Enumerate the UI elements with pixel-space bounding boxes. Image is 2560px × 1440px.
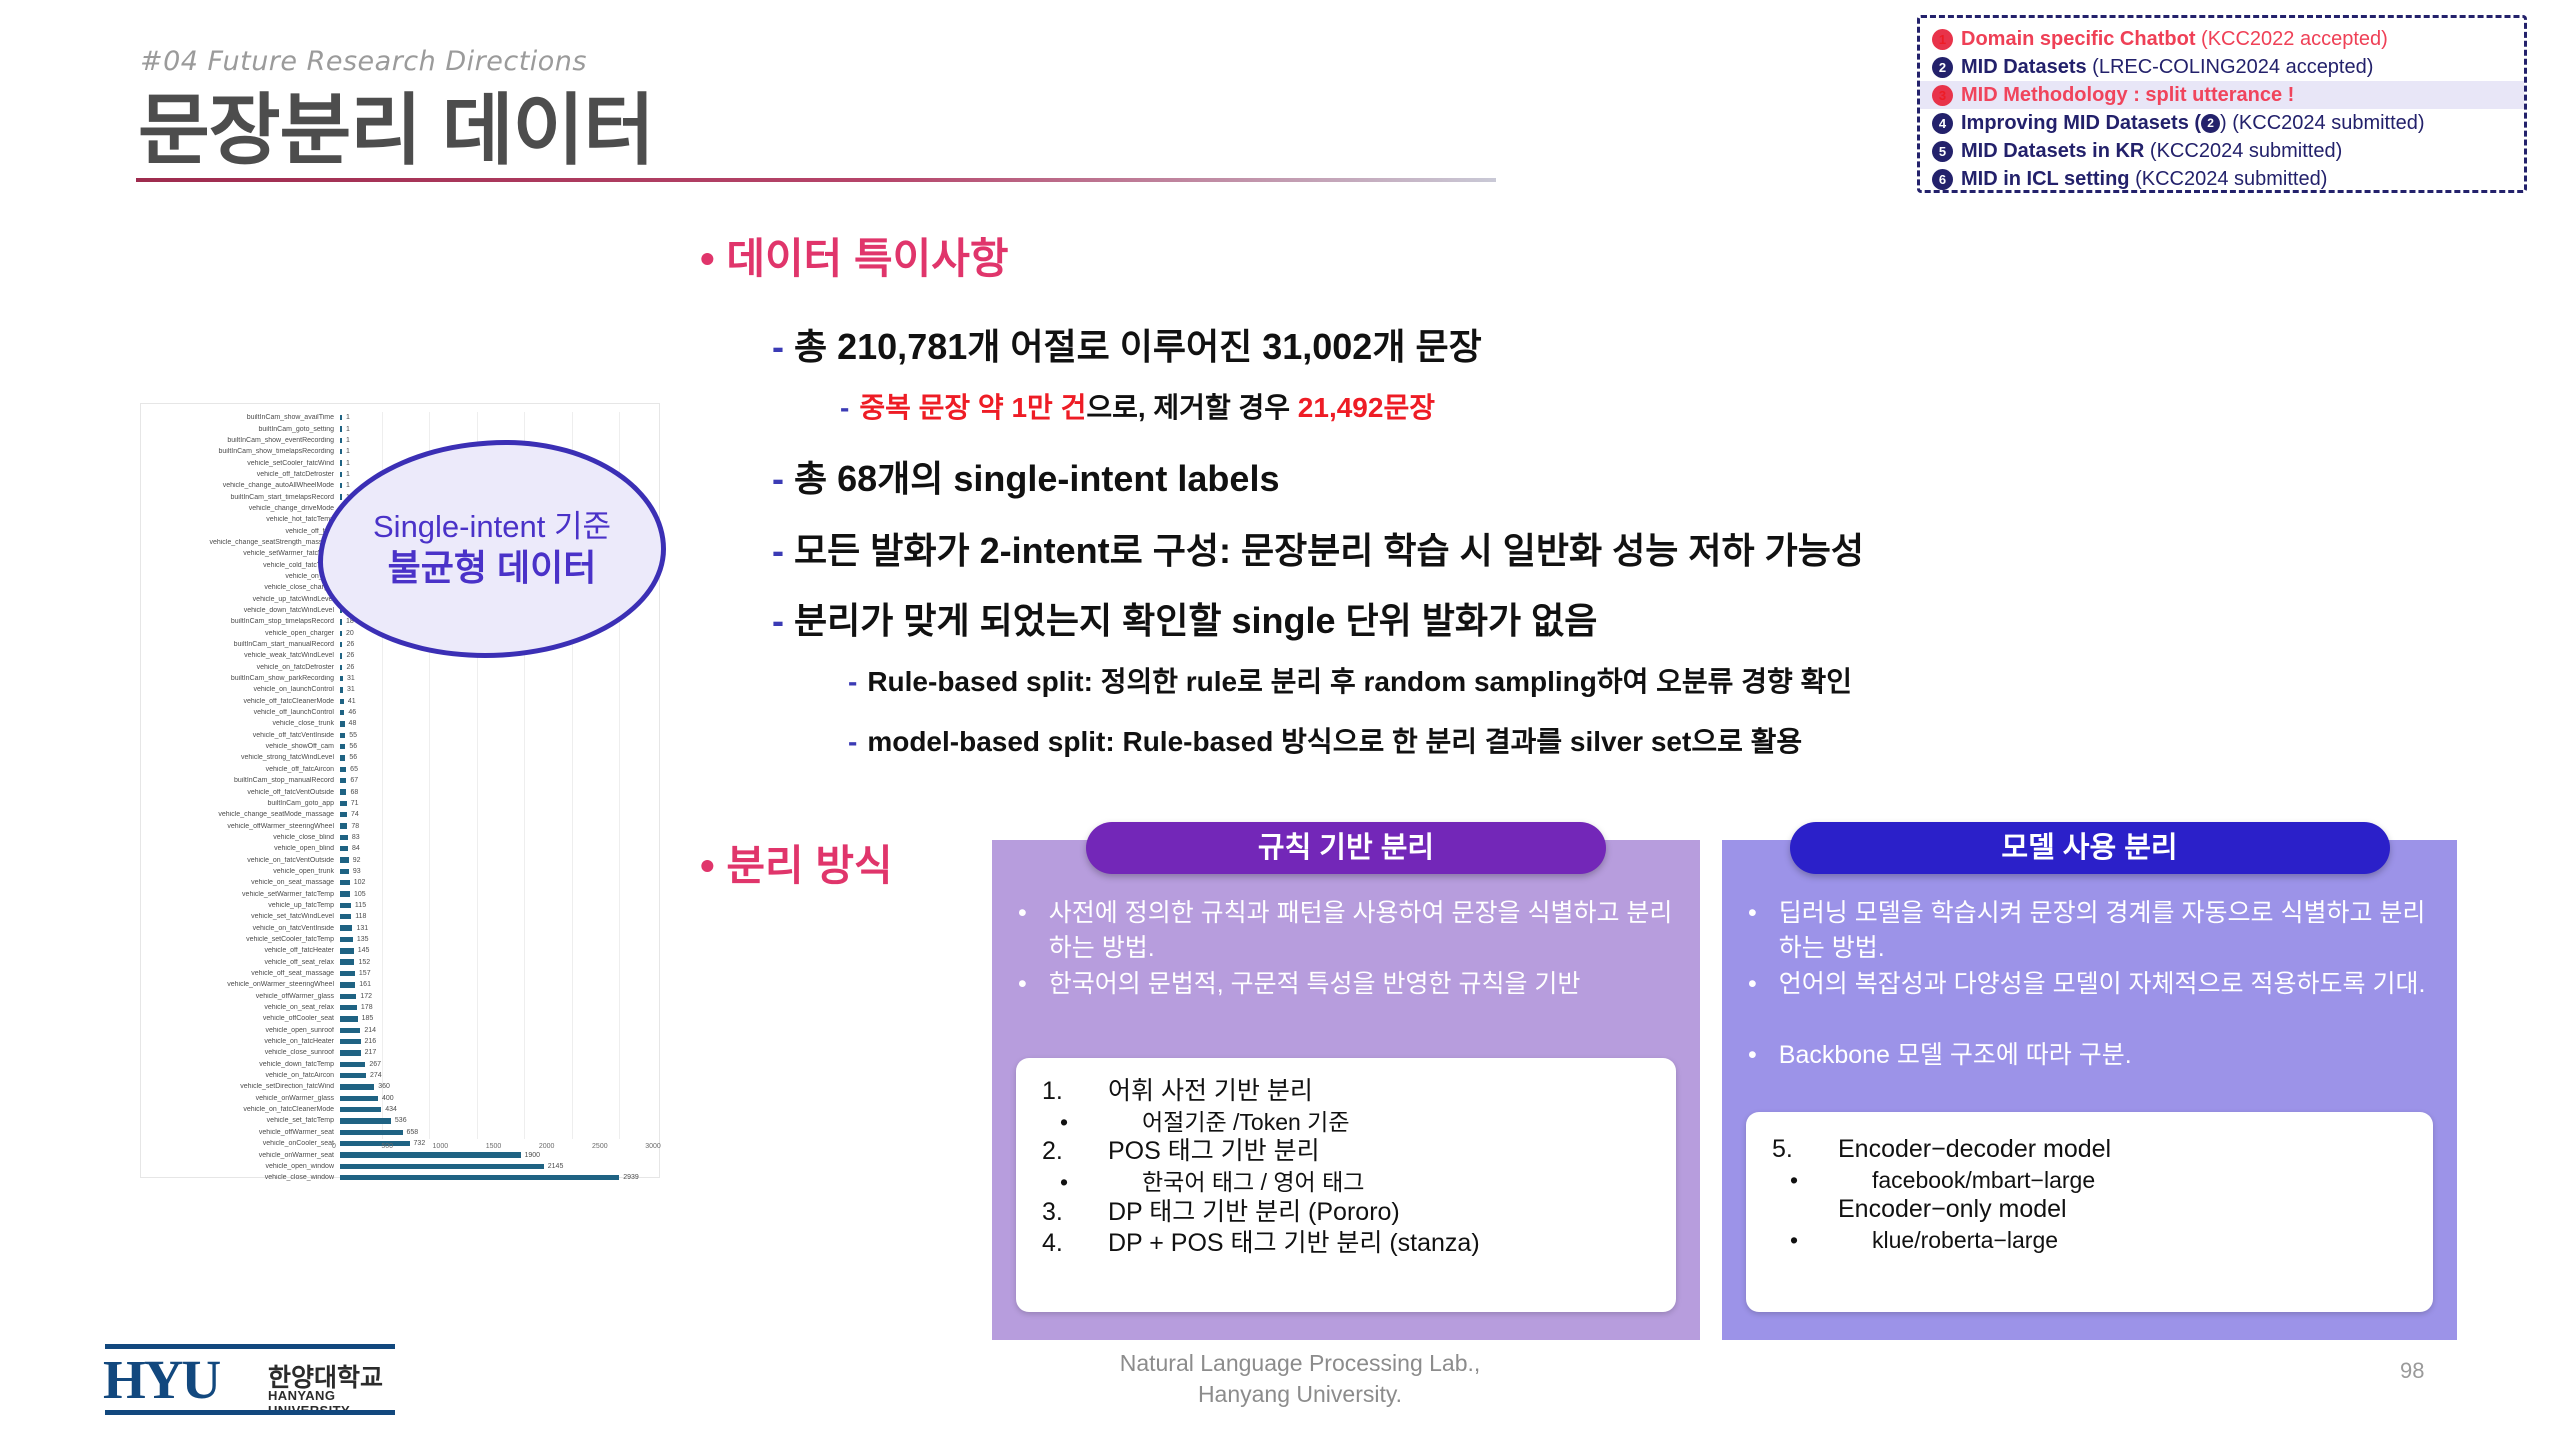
chart-bar-value: 1 [346,471,350,478]
chart-bar-value: 41 [348,698,356,705]
chart-bar-track: 48 [340,720,653,727]
list-item: 3.DP 태그 기반 분리 (Pororo) [1016,1197,1676,1229]
page-number: 98 [2400,1358,2424,1384]
chart-bar-track: 2939 [340,1174,653,1181]
panel-bullet: •Backbone 모델 구조에 따라 구분. [1748,1038,2439,1073]
legend-item-label: MID Datasets in KR (KCC2024 submitted) [1961,140,2342,163]
chart-bar-track: 31 [340,675,653,682]
chart-bar-track: 145 [340,947,653,954]
bullet-dot-icon: • [1748,1038,1757,1073]
chart-bar-label: vehicle_offCooler_seat [141,1015,340,1022]
chart-bar-value: 267 [369,1061,381,1068]
chart-bar-value: 658 [407,1129,419,1136]
chart-bar-row: vehicle_close_window2939 [141,1172,653,1183]
chart-bar [340,619,342,624]
legend-item-2: 2MID Datasets (LREC-COLING2024 accepted) [1920,53,2524,81]
footer-line-2: Hanyang University. [1100,1379,1500,1410]
chart-bar-label: vehicle_on_seat_massage [141,879,340,886]
chart-bar-row: vehicle_on_launchControl31 [141,684,653,695]
legend-item-label: MID Datasets (LREC-COLING2024 accepted) [1961,56,2373,79]
chart-bar-value: 2145 [548,1163,564,1170]
list-item-label: DP 태그 기반 분리 (Pororo) [1108,1197,1400,1229]
list-item-number: 2. [1016,1136,1108,1168]
list-item-label: Encoder−decoder model [1838,1134,2111,1166]
list-item-number: 5. [1746,1134,1838,1166]
panel-bullet: •언어의 복잡성과 다양성을 모델이 자체적으로 적용하도록 기대. [1748,967,2439,1002]
chart-bar-track: 78 [340,823,653,830]
chart-bar [340,1062,365,1067]
legend-item-3: 3MID Methodology : split utterance ! [1920,81,2524,109]
chart-bar-row: vehicle_onWarmer_glass400 [141,1093,653,1104]
legend-item-4: 4Improving MID Datasets (2) (KCC2024 sub… [1920,109,2524,137]
list-item-label: klue/roberta−large [1872,1226,2058,1255]
content-line-4: -모든 발화가 2-intent로 구성: 문장분리 학습 시 일반화 성능 저… [772,522,1864,574]
chart-bar-label: vehicle_close_blind [141,834,340,841]
chart-bar-row: vehicle_on_fatcAircon274 [141,1070,653,1081]
chart-bar-row: vehicle_offWarmer_glass172 [141,991,653,1002]
chart-bar-label: vehicle_change_autoAllWheelMode [141,482,340,489]
chart-bar-track: 135 [340,936,653,943]
rule-based-method-list: 1.어휘 사전 기반 분리•어절기준 /Token 기준2.POS 태그 기반 … [1016,1058,1676,1312]
chart-bar-value: 26 [346,664,354,671]
content-line-2: -중복 문장 약 1만 건으로, 제거할 경우 21,492문장 [840,386,1435,426]
chart-bar-value: 20 [346,630,354,637]
chart-bar-label: vehicle_on_launchControl [141,686,340,693]
chart-bar-label: vehicle_on_fatcVentInside [141,925,340,932]
chart-bar-row: vehicle_offWarmer_steeringWheel78 [141,820,653,831]
chart-bar-label: vehicle_down_fatcWindLevel [141,607,340,614]
chart-bar-label: vehicle_on_fatcCleanerMode [141,1106,340,1113]
dash-bullet-icon: - [772,530,784,571]
chart-bar [340,438,342,443]
chart-bar-track: 185 [340,1015,653,1022]
chart-axis-tick: 1500 [486,1143,502,1150]
chart-bar-label: vehicle_on_fatc [141,573,340,580]
dash-bullet-icon: - [772,458,784,499]
chart-bar-label: vehicle_off_fatcHeater [141,947,340,954]
chart-bar [340,721,345,726]
chart-bar [340,449,342,454]
chart-bar-track: 217 [340,1049,653,1056]
legend-item-6: 6MID in ICL setting (KCC2024 submitted) [1920,165,2524,193]
chart-bar-value: 172 [360,993,372,1000]
chart-bar-track: 65 [340,766,653,773]
bullet-dot-icon: • [1746,1166,1872,1195]
chart-bar [340,869,349,874]
rule-based-panel: 규칙 기반 분리 •사전에 정의한 규칙과 패턴을 사용하여 문장을 식별하고 … [992,840,1700,1340]
chart-bar-value: 84 [352,845,360,852]
chart-bar-track: 274 [340,1072,653,1079]
list-item: 2.POS 태그 기반 분리 [1016,1136,1676,1168]
chart-bar-row: vehicle_on_fatcVentOutside92 [141,854,653,865]
chart-bar [340,823,347,828]
model-based-panel: 모델 사용 분리 •딥러닝 모델을 학습시켜 문장의 경계를 자동으로 식별하고… [1722,840,2457,1340]
legend-number-badge: 3 [1932,85,1953,106]
slide-root: #04 Future Research Directions 문장분리 데이터 … [0,0,2560,1440]
chart-bar [340,891,350,896]
chart-bar-value: 92 [353,857,361,864]
chart-bar-row: builtInCam_goto_app71 [141,798,653,809]
list-item-label: 어휘 사전 기반 분리 [1108,1076,1313,1108]
chart-bar-row: vehicle_off_launchControl46 [141,707,653,718]
chart-bar-row: vehicle_close_trunk48 [141,718,653,729]
chart-bar-track: 68 [340,789,653,796]
legend-number-badge: 4 [1932,113,1953,134]
legend-number-badge: 2 [1932,57,1953,78]
rule-based-bullets: •사전에 정의한 규칙과 패턴을 사용하여 문장을 식별하고 분리하는 방법.•… [1018,896,1682,1004]
page-title: 문장분리 데이터 [138,68,654,180]
chart-bar-label: vehicle_off_fatcVentInside [141,732,340,739]
chart-bar-track: 56 [340,743,653,750]
legend-number-badge: 1 [1932,29,1953,50]
rule-based-panel-heading: 규칙 기반 분리 [1086,822,1606,874]
chart-bar-value: 185 [362,1015,374,1022]
chart-bar-row: vehicle_setDirection_fatcWind360 [141,1081,653,1092]
list-item: 4.DP + POS 태그 기반 분리 (stanza) [1016,1228,1676,1260]
dash-bullet-icon: - [848,666,857,697]
chart-bar-label: vehicle_onCooler_seat [141,1140,340,1147]
list-item: Encoder−only model [1746,1194,2433,1226]
chart-bar-row: vehicle_off_fatcHeater145 [141,945,653,956]
legend-item-label: MID in ICL setting (KCC2024 submitted) [1961,168,2327,191]
chart-bar-value: 74 [351,811,359,818]
chart-bar-row: builtInCam_show_eventRecording1 [141,435,653,446]
chart-bar-value: 68 [350,789,358,796]
chart-bar [340,642,342,647]
chart-bar [340,494,342,499]
bullet-dot-icon: • [1748,896,1757,965]
chart-bar-track: 400 [340,1095,653,1102]
chart-bar-label: vehicle_up_fatcTemp [141,902,340,909]
chart-bar-label: vehicle_setDirection_fatcWind [141,1083,340,1090]
panel-bullet-text: 한국어의 문법적, 구문적 특성을 반영한 규칙을 기반 [1049,967,1682,1002]
list-item-label: 한국어 태그 / 영어 태그 [1142,1168,1364,1197]
chart-bar [340,483,342,488]
legend-item-1: 1Domain specific Chatbot (KCC2022 accept… [1920,25,2524,53]
chart-bar [340,948,354,953]
chart-bar-row: vehicle_strong_fatcWindLevel56 [141,752,653,763]
chart-bar-label: vehicle_showOff_cam [141,743,340,750]
chart-bar-label: builtInCam_start_manualRecord [141,641,340,648]
bullet-dot-icon: • [1016,1168,1142,1197]
chart-bar-row: vehicle_set_fatcTemp536 [141,1115,653,1126]
chart-bar [340,653,342,658]
chart-bar-row: vehicle_off_fatcAircon65 [141,764,653,775]
chart-bar [340,699,344,704]
chart-bar-label: vehicle_off_launchControl [141,709,340,716]
chart-bar-row: vehicle_off_seat_massage157 [141,968,653,979]
chart-bar-value: 78 [351,823,359,830]
list-item: •어절기준 /Token 기준 [1016,1108,1676,1137]
chart-bar-value: 1 [346,426,350,433]
chart-bar-value: 48 [349,720,357,727]
chart-bar-row: vehicle_on_fatcDefroster26 [141,662,653,673]
chart-bar-row: vehicle_close_sunroof217 [141,1047,653,1058]
list-item-number: 1. [1016,1076,1108,1108]
chart-bar [340,767,346,772]
chart-bar-label: vehicle_off_fatc [141,528,340,535]
list-item: 5.Encoder−decoder model [1746,1134,2433,1166]
chart-bar-track: 74 [340,811,653,818]
bullet-dot-icon: • [700,235,715,282]
chart-bar [340,665,342,670]
chart-bar-track: 157 [340,970,653,977]
chart-bar [340,1175,619,1180]
chart-bar-label: builtInCam_show_availTime [141,414,340,421]
chart-bar-row: vehicle_offCooler_seat185 [141,1013,653,1024]
panel-bullet-text: 사전에 정의한 규칙과 패턴을 사용하여 문장을 식별하고 분리하는 방법. [1049,896,1682,965]
chart-bar-value: 157 [359,970,371,977]
chart-bar-value: 105 [354,891,366,898]
list-item-number: 3. [1016,1197,1108,1229]
chart-bar [340,835,348,840]
chart-bar-value: 217 [365,1049,377,1056]
legend-number-badge: 5 [1932,141,1953,162]
chart-bar-row: vehicle_up_fatcTemp115 [141,900,653,911]
model-based-panel-heading: 모델 사용 분리 [1790,822,2390,874]
chart-bar-value: 274 [370,1072,382,1079]
chart-bar-value: 216 [365,1038,377,1045]
chart-bar-label: vehicle_hot_fatcTemp [141,516,340,523]
chart-bar-value: 56 [349,754,357,761]
list-item: •facebook/mbart−large [1746,1166,2433,1195]
chart-bar-label: vehicle_set_fatcTemp [141,1117,340,1124]
chart-bar-label: vehicle_on_fatcHeater [141,1038,340,1045]
chart-bar [340,710,344,715]
footer-affiliation: Natural Language Processing Lab., Hanyan… [1100,1348,1500,1410]
panel-spacer [1748,1004,2439,1038]
chart-bar [340,1096,378,1101]
chart-bar-track: 56 [340,754,653,761]
chart-axis-tick: 500 [381,1143,393,1150]
chart-bar [340,744,345,749]
list-item-number: 4. [1016,1228,1108,1260]
list-item-label: DP + POS 태그 기반 분리 (stanza) [1108,1228,1480,1260]
logo-bar-bottom [105,1410,395,1415]
chart-bar [340,1050,361,1055]
chart-bar-value: 102 [354,879,366,886]
chart-bar-row: vehicle_open_sunroof214 [141,1025,653,1036]
chart-bar [340,937,353,942]
chart-bar-label: vehicle_on_fatcAircon [141,1072,340,1079]
chart-bar-value: 26 [346,641,354,648]
chart-bar-label: vehicle_open_sunroof [141,1027,340,1034]
chart-bar-row: vehicle_off_seat_relax152 [141,957,653,968]
chart-bar-label: vehicle_cold_fatcTemp [141,562,340,569]
chart-bar [340,982,355,987]
chart-bar-value: 118 [355,913,366,920]
legend-item-5: 5MID Datasets in KR (KCC2024 submitted) [1920,137,2524,165]
bullet-dot-icon: • [1746,1226,1872,1255]
chart-bar-row: vehicle_setCooler_fatcTemp135 [141,934,653,945]
chart-bar-row: vehicle_showOff_cam56 [141,741,653,752]
chart-bar-label: vehicle_setWarmer_fatcWind [141,550,340,557]
legend-item-label: Domain specific Chatbot (KCC2022 accepte… [1961,28,2388,51]
chart-bar-label: vehicle_off_fatcDefroster [141,471,340,478]
chart-bar-row: vehicle_on_seat_relax178 [141,1002,653,1013]
chart-bar-row: vehicle_down_fatcTemp267 [141,1059,653,1070]
chart-bar [340,857,349,862]
chart-bar [340,631,342,636]
chart-bar [340,1130,403,1135]
chart-bar-track: 1 [340,426,653,433]
panel-bullet-text: 언어의 복잡성과 다양성을 모델이 자체적으로 적용하도록 기대. [1779,967,2439,1002]
legend-inline-badge: 2 [2201,114,2220,133]
chart-bar-label: vehicle_onWarmer_glass [141,1095,340,1102]
chart-bar-label: builtInCam_show_parkRecording [141,675,340,682]
chart-bar [340,1039,361,1044]
list-item-label: facebook/mbart−large [1872,1166,2095,1195]
chart-bar-value: 145 [358,947,370,954]
chart-bar-row: builtInCam_show_parkRecording31 [141,673,653,684]
chart-bar-label: vehicle_change_seatMode_massage [141,811,340,818]
chart-bar-track: 92 [340,857,653,864]
chart-bar-track: 26 [340,664,653,671]
chart-bar-label: vehicle_on_fatcVentOutside [141,857,340,864]
content-line-3: -총 68개의 single-intent labels [772,450,1279,502]
callout-line-1: Single-intent 기준 [373,508,611,546]
chart-bar [340,1164,544,1169]
chart-bar-row: vehicle_weak_fatcWindLevel26 [141,650,653,661]
chart-bar-label: vehicle_open_charger [141,630,340,637]
chart-bar [340,1084,374,1089]
chart-bar-track: 84 [340,845,653,852]
callout-line-2: 불균형 데이터 [388,546,597,590]
chart-bar-label: builtInCam_start_timelapsRecord [141,494,340,501]
chart-bar [340,959,354,964]
chart-bar-value: 1 [346,414,350,421]
bullet-dot-icon: • [700,842,715,889]
logo-wordmark: HYU [103,1348,219,1411]
chart-bar-label: vehicle_offWarmer_glass [141,993,340,1000]
chart-bar-track: 105 [340,891,653,898]
chart-bar-value: 31 [347,675,355,682]
chart-bar-value: 115 [355,902,366,909]
bullet-dot-icon: • [1748,967,1757,1002]
chart-bar-track: 93 [340,868,653,875]
chart-bar-track: 102 [340,879,653,886]
chart-bar-row: vehicle_on_seat_massage102 [141,877,653,888]
chart-bar-value: 434 [385,1106,397,1113]
section-1-title: • 데이터 특이사항 [700,225,1009,286]
chart-bar-label: builtInCam_stop_timelapsRecord [141,618,340,625]
chart-bar-row: vehicle_set_fatcWindLevel118 [141,911,653,922]
panel-bullet-text: 딥러닝 모델을 학습시켜 문장의 경계를 자동으로 식별하고 분리하는 방법. [1779,896,2439,965]
chart-bar-value: 46 [348,709,356,716]
chart-bar-label: vehicle_setWarmer_fatcTemp [141,891,340,898]
chart-bar-value: 360 [378,1083,390,1090]
chart-bar-row: vehicle_on_fatcHeater216 [141,1036,653,1047]
content-line-6: -Rule-based split: 정의한 rule로 분리 후 random… [848,660,1852,700]
chart-bar-track: 267 [340,1061,653,1068]
chart-bar-label: builtInCam_goto_app [141,800,340,807]
chart-bar-row: builtInCam_goto_setting1 [141,423,653,434]
chart-bar-value: 83 [352,834,360,841]
chart-bar-row: vehicle_open_blind84 [141,843,653,854]
chart-bar-row: vehicle_open_trunk93 [141,866,653,877]
chart-bar-value: 31 [347,686,355,693]
chart-bar-row: vehicle_offWarmer_seat658 [141,1127,653,1138]
chart-axis-tick: 2000 [539,1143,555,1150]
chart-x-axis: 050010001500200025003000 [334,1143,653,1163]
chart-bar-value: 55 [349,732,357,739]
model-based-bullets: •딥러닝 모델을 학습시켜 문장의 경계를 자동으로 식별하고 분리하는 방법.… [1748,896,2439,1074]
chart-bar-track: 434 [340,1106,653,1113]
chart-bar-label: vehicle_close_charger [141,584,340,591]
chart-bar-value: 2939 [623,1174,639,1181]
content-line-1: -총 210,781개 어절로 이루어진 31,002개 문장 [772,318,1482,370]
chart-bar-value: 65 [350,766,358,773]
hyu-logo: HYU 한양대학교 HANYANG UNIVERSITY [103,1352,403,1420]
chart-axis-tick: 2500 [592,1143,608,1150]
chart-bar-row: vehicle_off_fatcCleanerMode41 [141,696,653,707]
chart-bar-label: vehicle_off_fatcAircon [141,766,340,773]
chart-bar-label: vehicle_change_seatStrength_massage [141,539,340,546]
chart-bar-row: vehicle_change_seatMode_massage74 [141,809,653,820]
chart-bar [340,1005,357,1010]
chart-bar-label: vehicle_strong_fatcWindLevel [141,754,340,761]
chart-bar-value: 26 [346,652,354,659]
research-roadmap-legend: 1Domain specific Chatbot (KCC2022 accept… [1917,15,2527,193]
chart-bar-track: 71 [340,800,653,807]
chart-bar-value: 161 [359,981,371,988]
bullet-dot-icon: • [1016,1108,1142,1137]
chart-bar-value: 1 [346,482,350,489]
chart-bar-label: vehicle_setCooler_fatcWind [141,460,340,467]
chart-bar-label: vehicle_close_sunroof [141,1049,340,1056]
chart-bar-track: 83 [340,834,653,841]
chart-bar-value: 178 [361,1004,373,1011]
list-item: 1.어휘 사전 기반 분리 [1016,1076,1676,1108]
chart-bar-row: vehicle_on_fatcVentInside131 [141,922,653,933]
chart-bar-value: 1 [346,460,350,467]
chart-bar [340,1073,366,1078]
legend-number-badge: 6 [1932,169,1953,190]
chart-bar-track: 2145 [340,1163,653,1170]
chart-bar-track: 46 [340,709,653,716]
chart-bar-track: 1 [340,414,653,421]
chart-axis-tick: 1000 [433,1143,449,1150]
chart-bar-row: builtInCam_stop_manualRecord67 [141,775,653,786]
chart-bar-label: builtInCam_show_timelapsRecording [141,448,340,455]
chart-bar-label: vehicle_open_blind [141,845,340,852]
chart-bar [340,914,351,919]
chart-bar-track: 658 [340,1129,653,1136]
chart-bar [340,472,342,477]
chart-bar [340,460,342,465]
list-item: •klue/roberta−large [1746,1226,2433,1255]
chart-bar-label: vehicle_off_seat_relax [141,959,340,966]
chart-bar-track: 31 [340,686,653,693]
chart-bar [340,676,343,681]
bullet-dot-icon: • [1018,896,1027,965]
chart-bar [340,733,345,738]
chart-bar-label: vehicle_weak_fatcWindLevel [141,652,340,659]
legend-item-label: Improving MID Datasets (2) (KCC2024 subm… [1961,112,2425,135]
dash-bullet-icon: - [840,392,849,423]
chart-bar-label: builtInCam_show_eventRecording [141,437,340,444]
chart-bar-track: 55 [340,732,653,739]
chart-bar-value: 93 [353,868,361,875]
chart-bar-value: 135 [357,936,369,943]
chart-bar-value: 1 [346,448,350,455]
chart-bar [340,801,347,806]
model-based-method-list: 5.Encoder−decoder model•facebook/mbart−l… [1746,1112,2433,1312]
chart-bar-value: 400 [382,1095,394,1102]
chart-bar-track: 115 [340,902,653,909]
panel-bullet: •사전에 정의한 규칙과 패턴을 사용하여 문장을 식별하고 분리하는 방법. [1018,896,1682,965]
chart-bar-label: vehicle_set_fatcWindLevel [141,913,340,920]
